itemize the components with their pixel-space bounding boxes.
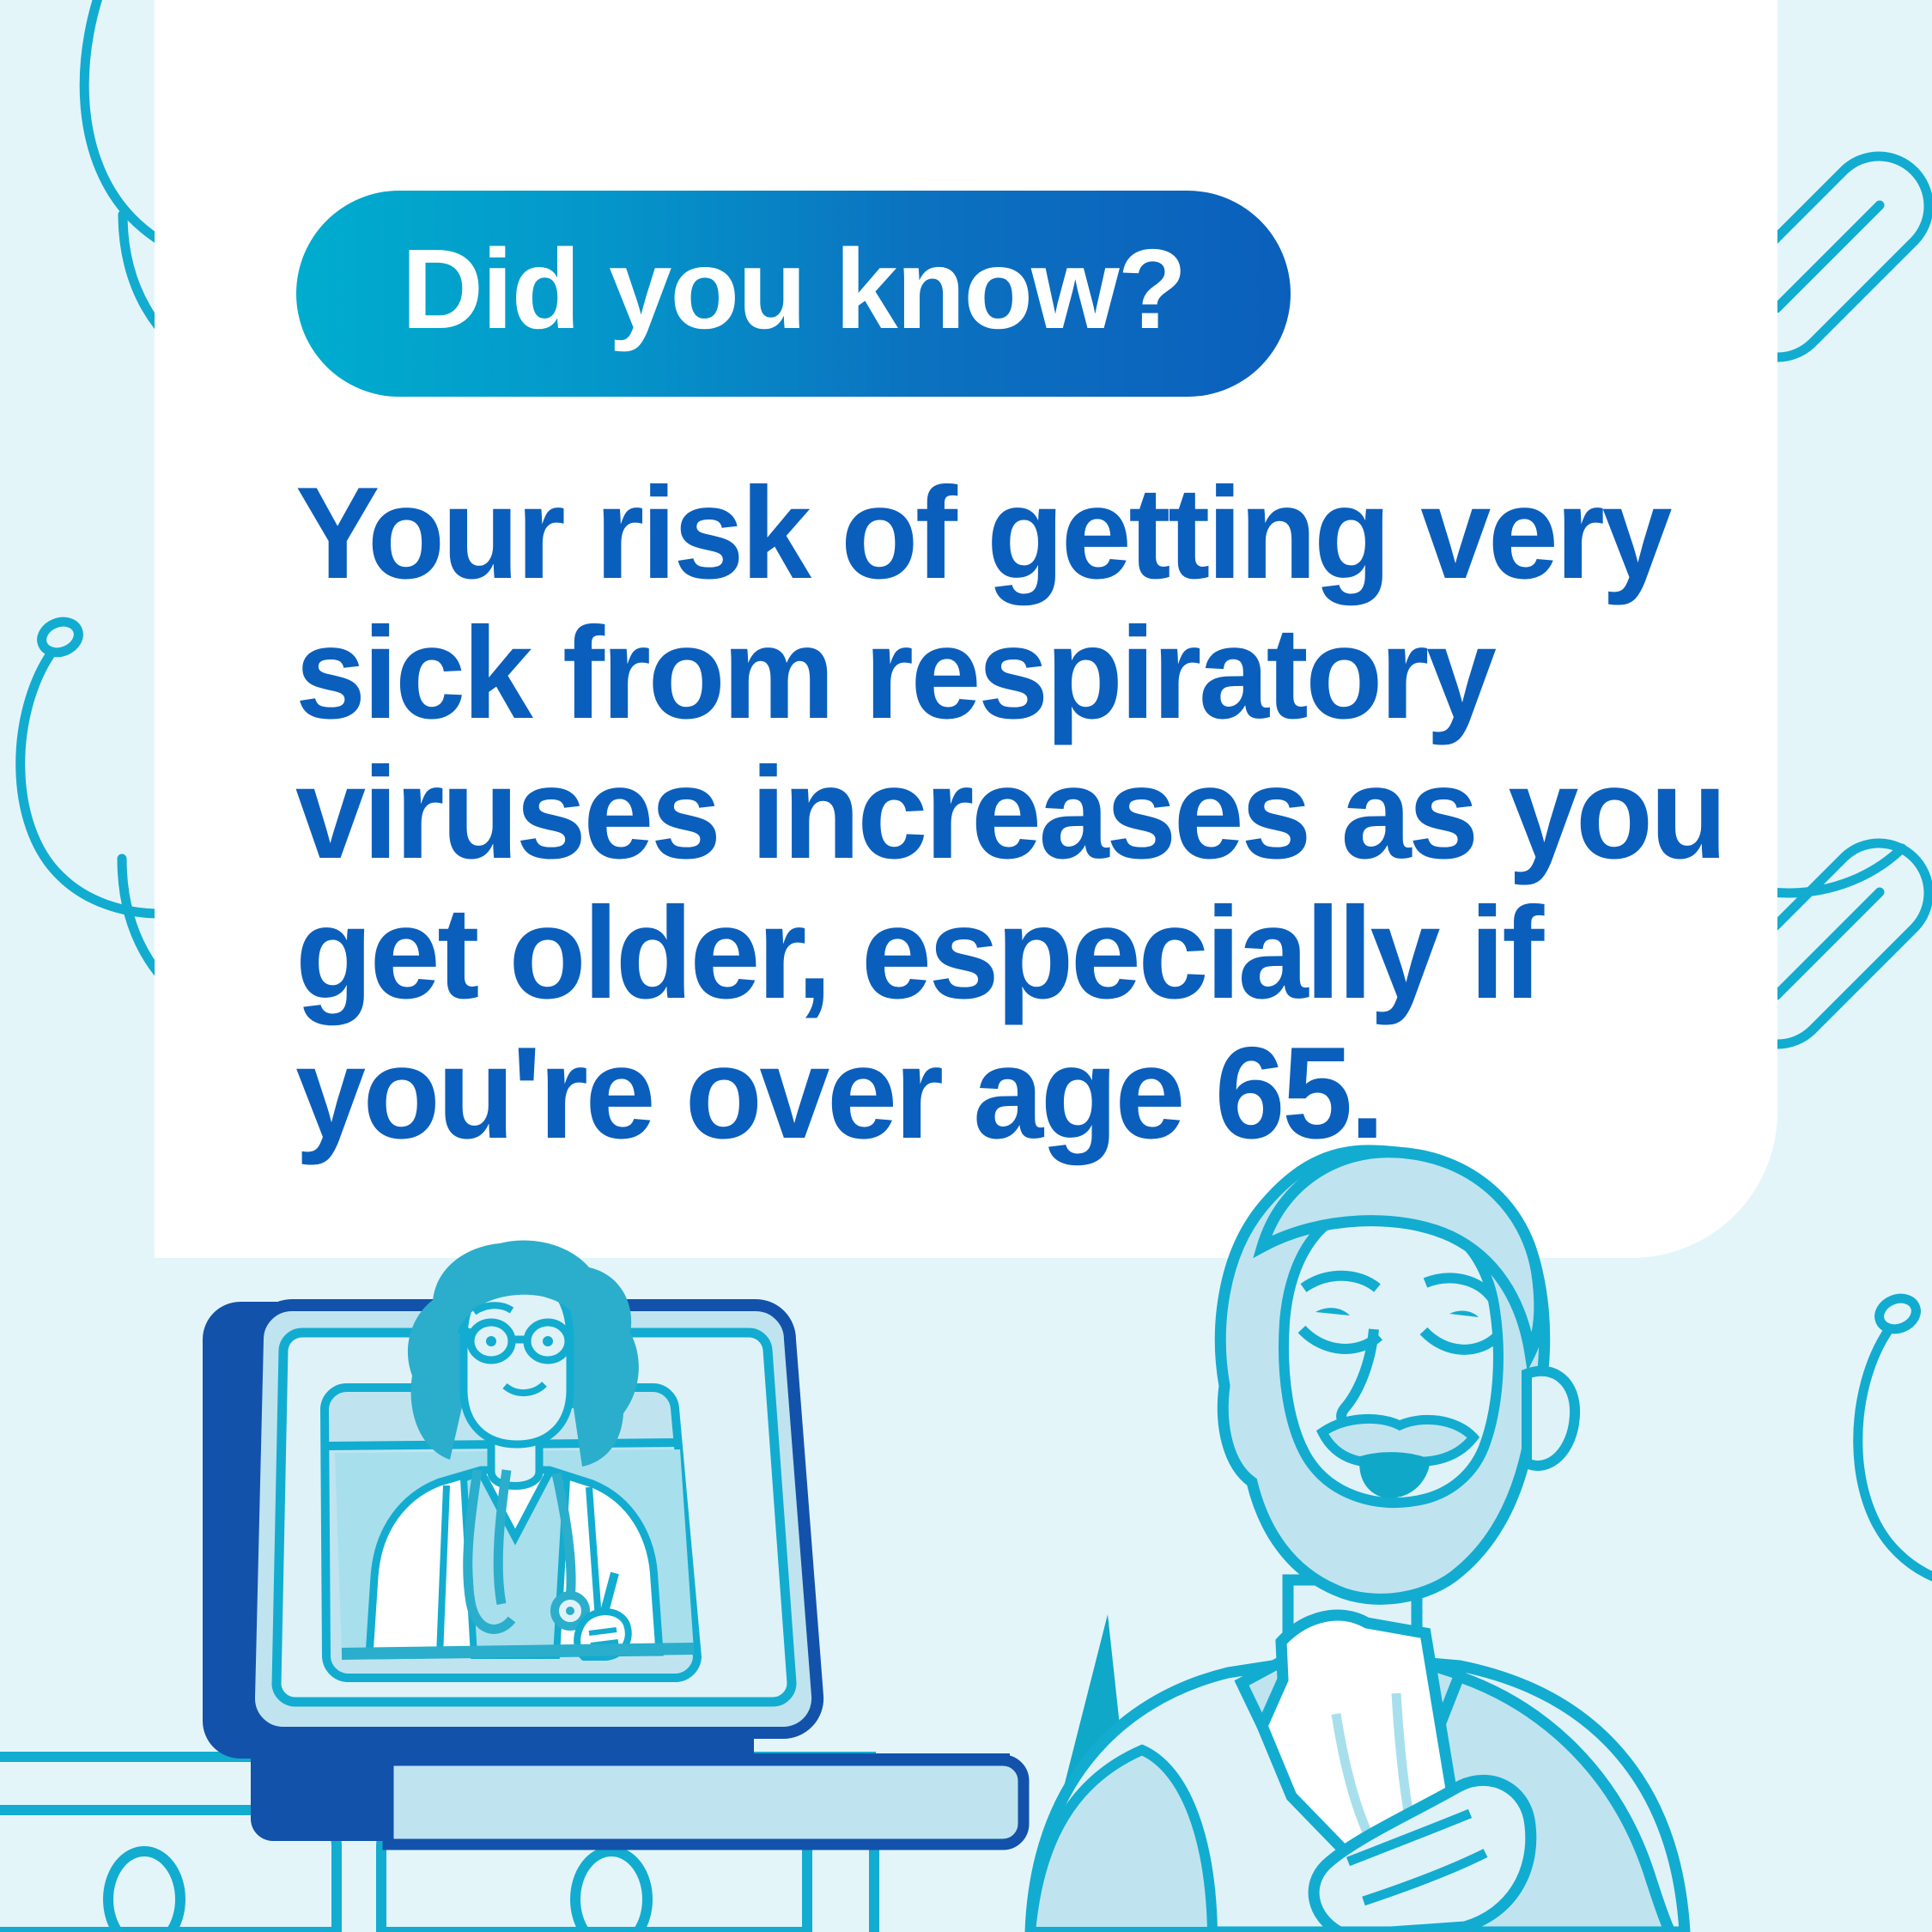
infographic-canvas: Did you know? Your risk of getting very …	[0, 0, 1932, 1932]
ear-icon	[1527, 1371, 1575, 1466]
laptop-icon	[203, 1240, 1024, 1844]
illustrations	[0, 0, 1932, 1932]
telehealth-laptop-scene	[0, 1240, 1024, 1932]
sick-older-man-scene	[1027, 1151, 1685, 1932]
